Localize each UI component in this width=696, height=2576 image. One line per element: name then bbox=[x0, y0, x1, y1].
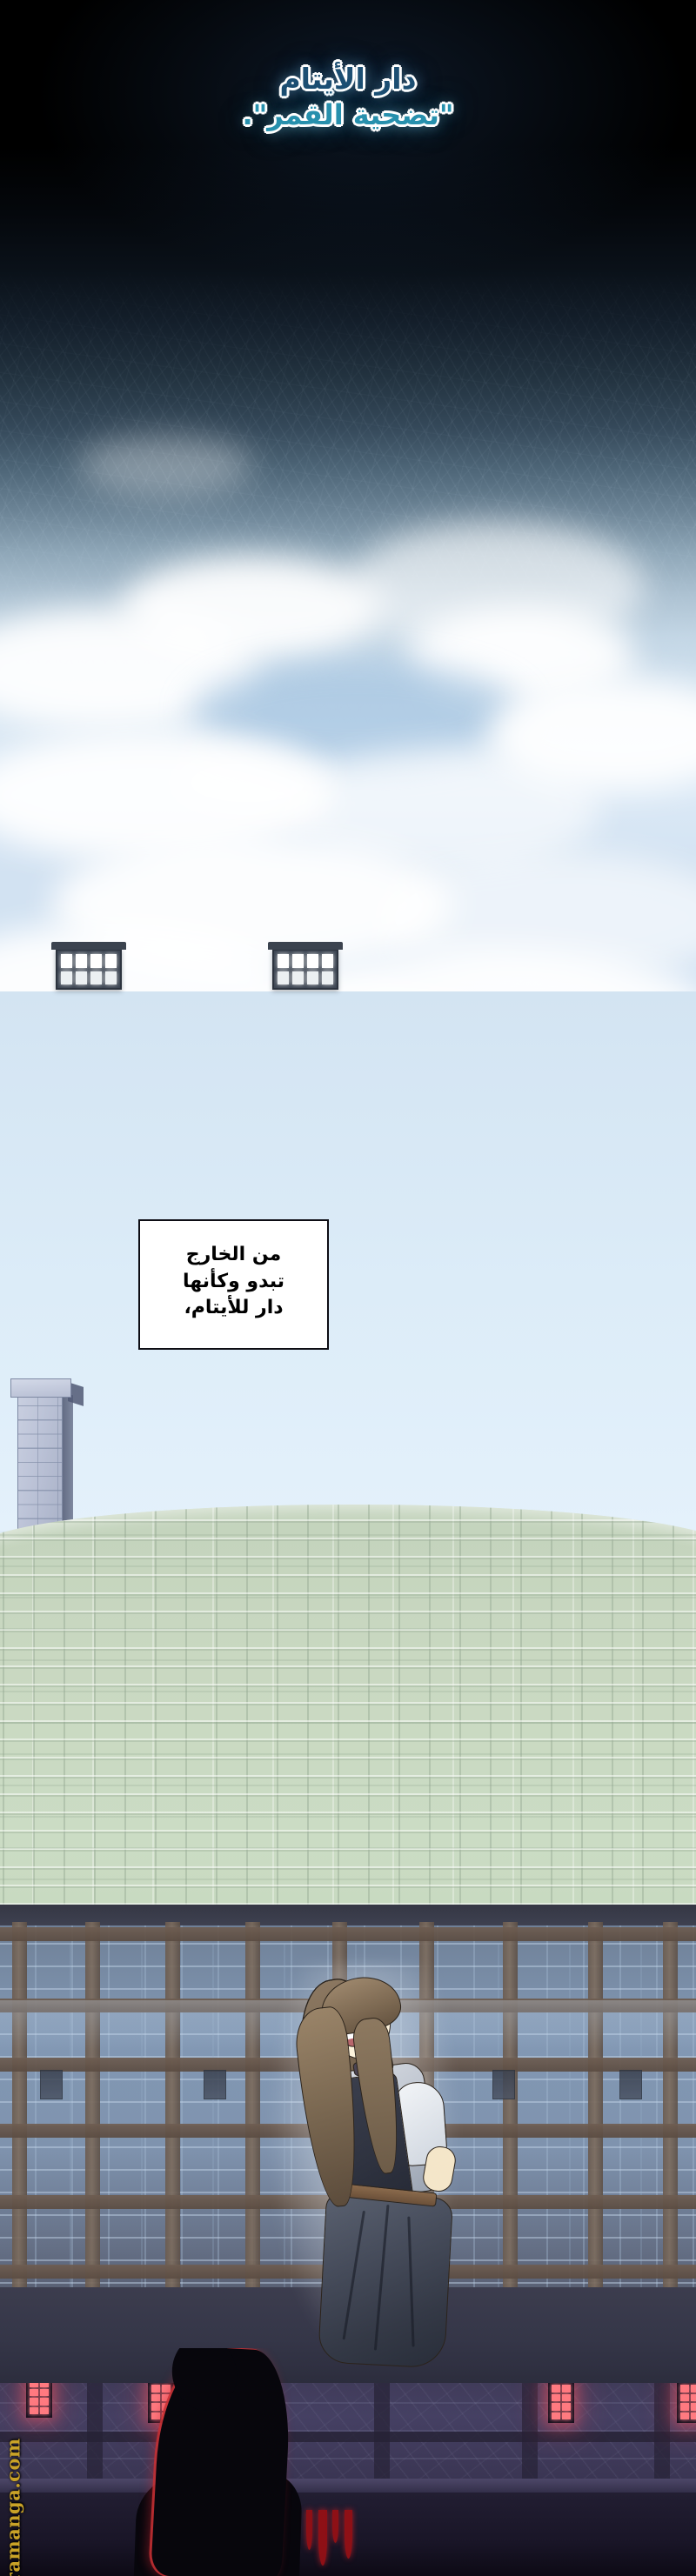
manga-page: دار الأيتام "تضحية القمر". bbox=[0, 0, 696, 2576]
timber-post bbox=[12, 1922, 27, 2287]
window-pane bbox=[76, 971, 87, 985]
facade-window bbox=[204, 2070, 226, 2099]
caption-line-2: تبدو وكأنها bbox=[183, 1269, 284, 1295]
window-pane bbox=[691, 2403, 696, 2411]
window-pane bbox=[30, 2389, 38, 2397]
chimney-cap bbox=[10, 1378, 71, 1398]
sky-panel bbox=[0, 0, 696, 1044]
dormer-hood-left bbox=[51, 942, 126, 950]
facade-window bbox=[619, 2070, 642, 2099]
title-line-2: "تضحية القمر". bbox=[0, 99, 696, 132]
window-pane bbox=[105, 971, 117, 985]
site-watermark: www.azoramanga.com bbox=[2, 2244, 24, 2566]
dormer-hood-right bbox=[268, 942, 343, 950]
chapter-title: دار الأيتام "تضحية القمر". bbox=[0, 63, 696, 132]
red-drip bbox=[318, 2510, 327, 2566]
window-pane bbox=[680, 2403, 689, 2411]
window-pane bbox=[562, 2412, 571, 2420]
window-pane bbox=[322, 954, 333, 968]
window-pane bbox=[278, 971, 289, 985]
facade-window bbox=[40, 2070, 63, 2099]
cloud bbox=[78, 435, 252, 496]
caption-line-1: من الخارج bbox=[186, 1242, 282, 1268]
red-drip bbox=[332, 2510, 338, 2543]
character-silhouette bbox=[130, 2348, 309, 2576]
window-pane bbox=[680, 2385, 689, 2392]
window-pane bbox=[562, 2403, 571, 2411]
caption-box: من الخارج تبدو وكأنها دار للأيتام، bbox=[138, 1219, 329, 1350]
timber-post bbox=[165, 1922, 180, 2287]
window-pane bbox=[30, 2407, 38, 2415]
window-pane bbox=[76, 954, 87, 968]
cloud bbox=[122, 557, 383, 661]
window-pane bbox=[562, 2385, 571, 2392]
glowing-window bbox=[548, 2381, 574, 2423]
cloud bbox=[165, 748, 331, 818]
cloud bbox=[191, 661, 522, 765]
roof-surface bbox=[0, 1505, 696, 1905]
timber-post bbox=[663, 1922, 678, 2287]
window-pane bbox=[562, 2394, 571, 2402]
timber-post bbox=[245, 1922, 260, 2287]
window-pane bbox=[680, 2394, 689, 2402]
roof-shingle-texture-overlay bbox=[0, 1505, 696, 1905]
window-pane bbox=[307, 954, 318, 968]
night-timber-beam bbox=[0, 2432, 696, 2442]
skirt bbox=[318, 2192, 453, 2368]
cloud bbox=[287, 748, 600, 870]
roof-sky-backdrop bbox=[0, 991, 696, 1531]
window-pane bbox=[292, 971, 304, 985]
window-pane bbox=[90, 954, 102, 968]
window-pane bbox=[552, 2385, 560, 2392]
window-pane bbox=[40, 2407, 49, 2415]
skirt-fold bbox=[374, 2205, 390, 2351]
red-drip bbox=[345, 2510, 352, 2559]
timber-beam bbox=[0, 1927, 696, 1941]
window-pane bbox=[61, 954, 72, 968]
title-line-1: دار الأيتام bbox=[0, 63, 696, 97]
cloud bbox=[487, 678, 696, 791]
night-ledge bbox=[0, 2479, 696, 2493]
character-girl bbox=[277, 1972, 451, 2364]
window-pane bbox=[691, 2394, 696, 2402]
window-pane bbox=[552, 2394, 560, 2402]
cloud bbox=[409, 609, 635, 704]
caption-line-3: دار للأيتام، bbox=[184, 1295, 283, 1321]
skirt-fold bbox=[343, 2211, 365, 2340]
roof-panel bbox=[0, 991, 696, 1905]
skirt-fold bbox=[407, 2217, 414, 2347]
window-pane bbox=[40, 2389, 49, 2397]
dormer-window-left bbox=[56, 949, 122, 990]
window-pane bbox=[278, 954, 289, 968]
window-pane bbox=[90, 971, 102, 985]
window-pane bbox=[292, 954, 304, 968]
window-pane bbox=[307, 971, 318, 985]
window-pane bbox=[322, 971, 333, 985]
window-pane bbox=[552, 2412, 560, 2420]
cloud bbox=[0, 609, 261, 731]
dormer-window-right bbox=[272, 949, 338, 990]
cloud bbox=[0, 731, 331, 861]
red-drip bbox=[306, 2510, 312, 2550]
window-pane bbox=[105, 954, 117, 968]
window-pane bbox=[61, 971, 72, 985]
watermark-text: www.azoramanga.com bbox=[3, 2438, 24, 2576]
timber-post bbox=[503, 1922, 518, 2287]
window-pane bbox=[680, 2412, 689, 2420]
timber-post bbox=[588, 1922, 603, 2287]
window-pane bbox=[552, 2403, 560, 2411]
window-pane bbox=[30, 2398, 38, 2406]
glowing-window bbox=[677, 2381, 696, 2423]
window-pane bbox=[40, 2398, 49, 2406]
sky-scratch-texture bbox=[0, 261, 696, 748]
window-pane bbox=[691, 2412, 696, 2420]
cloud bbox=[374, 852, 696, 983]
timber-post bbox=[85, 1922, 100, 2287]
facade-window bbox=[492, 2070, 515, 2099]
window-pane bbox=[691, 2385, 696, 2392]
cloud bbox=[348, 522, 644, 652]
